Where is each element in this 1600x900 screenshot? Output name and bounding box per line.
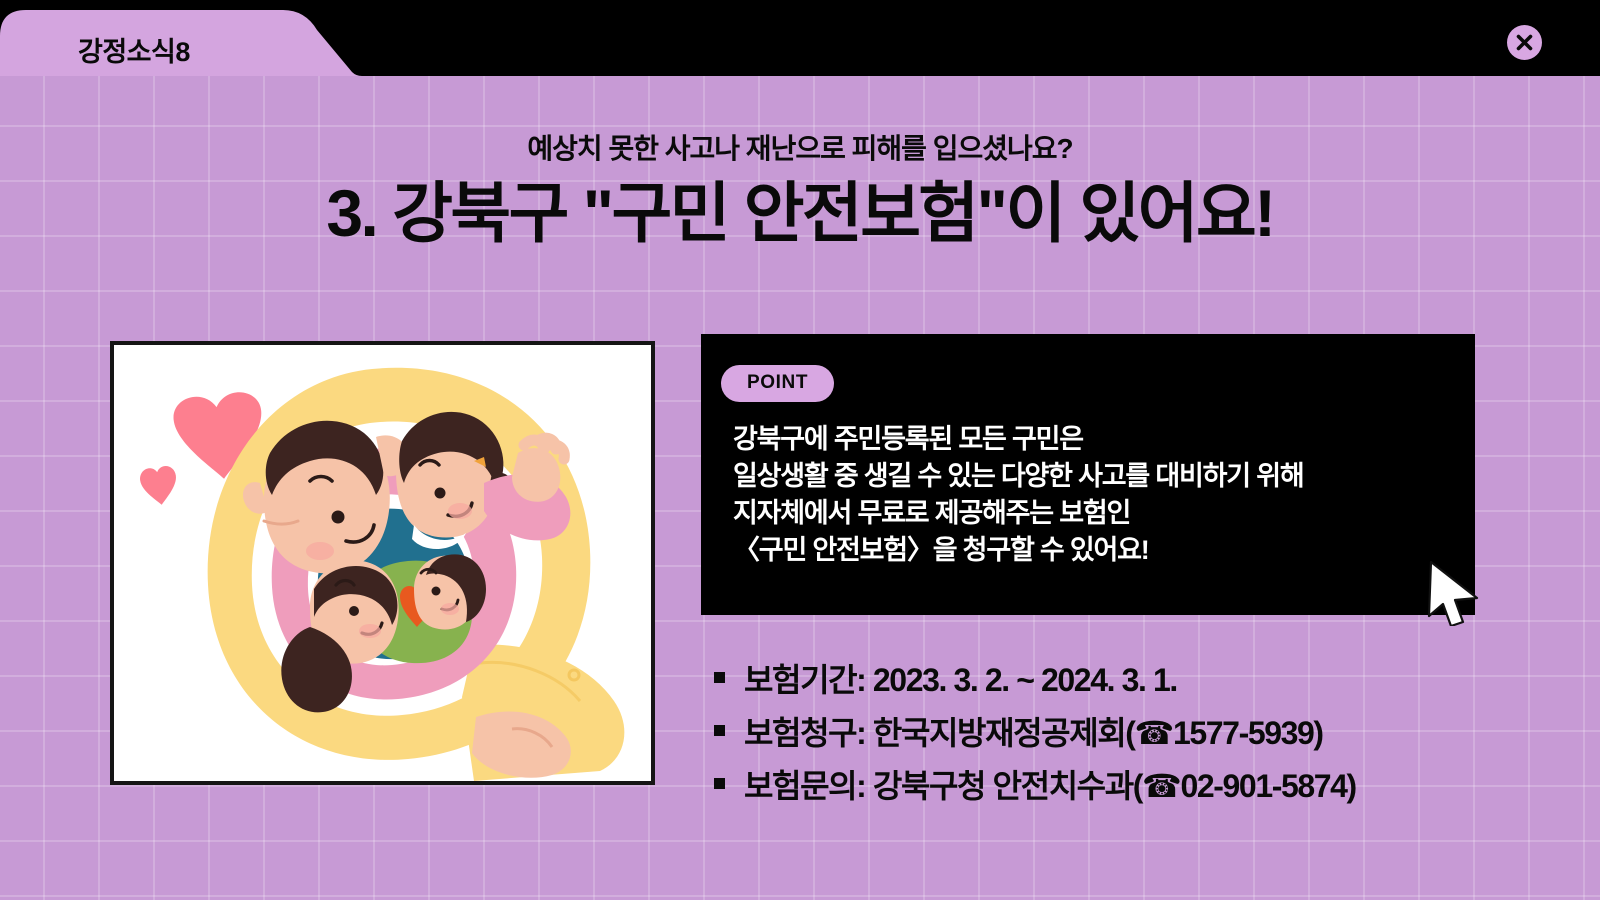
point-line: 〈구민 안전보험〉을 청구할 수 있어요! [733,532,1463,569]
page-title: 3. 강북구 "구민 안전보험"이 있어요! [0,179,1600,248]
illustration-card [110,341,655,785]
page-subtitle: 예상치 못한 사고나 재난으로 피해를 입으셨나요? [0,134,1600,165]
point-badge: POINT [721,365,834,402]
window-tab-label: 강정소식8 [78,30,190,69]
list-item: 보험청구: 한국지방재정공제회(☎1577-5939) [714,704,1534,757]
headline-block: 예상치 못한 사고나 재난으로 피해를 입으셨나요? 3. 강북구 "구민 안전… [0,134,1600,248]
bullet-square-icon [714,672,725,683]
point-line: 지자체에서 무료로 제공해주는 보험인 [733,495,1463,532]
close-icon [1507,25,1542,60]
slide-canvas: 강정소식8 예상치 못한 사고나 재난으로 피해를 입으셨나요? 3. 강북구 … [0,0,1600,900]
bullet-square-icon [714,778,725,789]
family-hug-illustration-icon [114,345,651,781]
list-item-label: 보험기간: 2023. 3. 2. ~ 2024. 3. 1. [744,655,1177,701]
close-button[interactable] [1507,25,1542,60]
point-panel: POINT 강북구에 주민등록된 모든 구민은 일상생활 중 생길 수 있는 다… [701,334,1475,615]
list-item-label: 보험문의: 강북구청 안전치수과(☎02-901-5874) [744,761,1356,807]
point-line: 일상생활 중 생길 수 있는 다양한 사고를 대비하기 위해 [733,458,1463,495]
window-tab[interactable]: 강정소식8 [0,10,380,76]
point-line: 강북구에 주민등록된 모든 구민은 [733,421,1463,458]
bullet-square-icon [714,725,725,736]
list-item: 보험기간: 2023. 3. 2. ~ 2024. 3. 1. [714,651,1534,704]
point-text-block: 강북구에 주민등록된 모든 구민은 일상생활 중 생길 수 있는 다양한 사고를… [733,421,1463,569]
list-item: 보험문의: 강북구청 안전치수과(☎02-901-5874) [714,757,1534,810]
list-item-label: 보험청구: 한국지방재정공제회(☎1577-5939) [744,708,1323,754]
detail-list: 보험기간: 2023. 3. 2. ~ 2024. 3. 1. 보험청구: 한국… [714,651,1534,810]
tab-shape-icon [0,10,380,76]
